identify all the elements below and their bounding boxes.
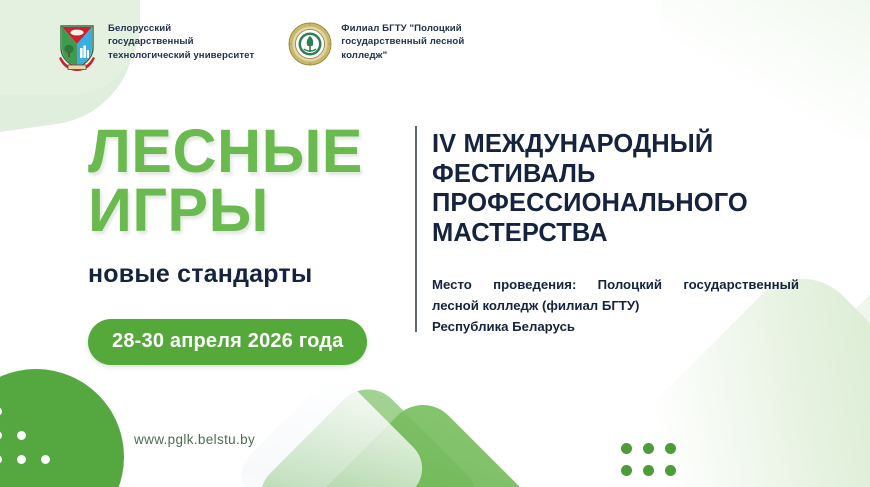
festival-title-line-1: IV МЕЖДУНАРОДНЫЙ	[432, 130, 832, 160]
festival-title-line-2: ФЕСТИВАЛЬ	[432, 160, 832, 190]
venue-line-2: лесной колледж (филиал БГТУ)	[432, 295, 832, 316]
venue-line-3: Республика Беларусь	[432, 316, 832, 337]
venue-line-1: Место проведения: Полоцкий государственн…	[432, 274, 799, 295]
website-url[interactable]: www.pglk.belstu.by	[134, 432, 255, 447]
date-badge: 28-30 апреля 2026 года	[88, 319, 367, 365]
festival-title: IV МЕЖДУНАРОДНЫЙ ФЕСТИВАЛЬ ПРОФЕССИОНАЛЬ…	[432, 130, 832, 248]
festival-poster: Белорусский государственный технологичес…	[0, 0, 870, 487]
left-column: ЛЕСНЫЕ ИГРЫ новые стандарты 28-30 апреля…	[88, 122, 388, 365]
poster-content: ЛЕСНЫЕ ИГРЫ новые стандарты 28-30 апреля…	[0, 0, 870, 487]
subtitle: новые стандарты	[88, 260, 388, 289]
festival-title-line-4: МАСТЕРСТВА	[432, 219, 832, 249]
title-line-1: ЛЕСНЫЕ	[88, 117, 363, 185]
page-title: ЛЕСНЫЕ ИГРЫ	[88, 122, 388, 240]
right-column: IV МЕЖДУНАРОДНЫЙ ФЕСТИВАЛЬ ПРОФЕССИОНАЛЬ…	[432, 130, 832, 337]
title-line-2: ИГРЫ	[88, 181, 388, 240]
venue-info: Место проведения: Полоцкий государственн…	[432, 274, 832, 337]
column-divider	[415, 126, 417, 332]
festival-title-line-3: ПРОФЕССИОНАЛЬНОГО	[432, 189, 832, 219]
